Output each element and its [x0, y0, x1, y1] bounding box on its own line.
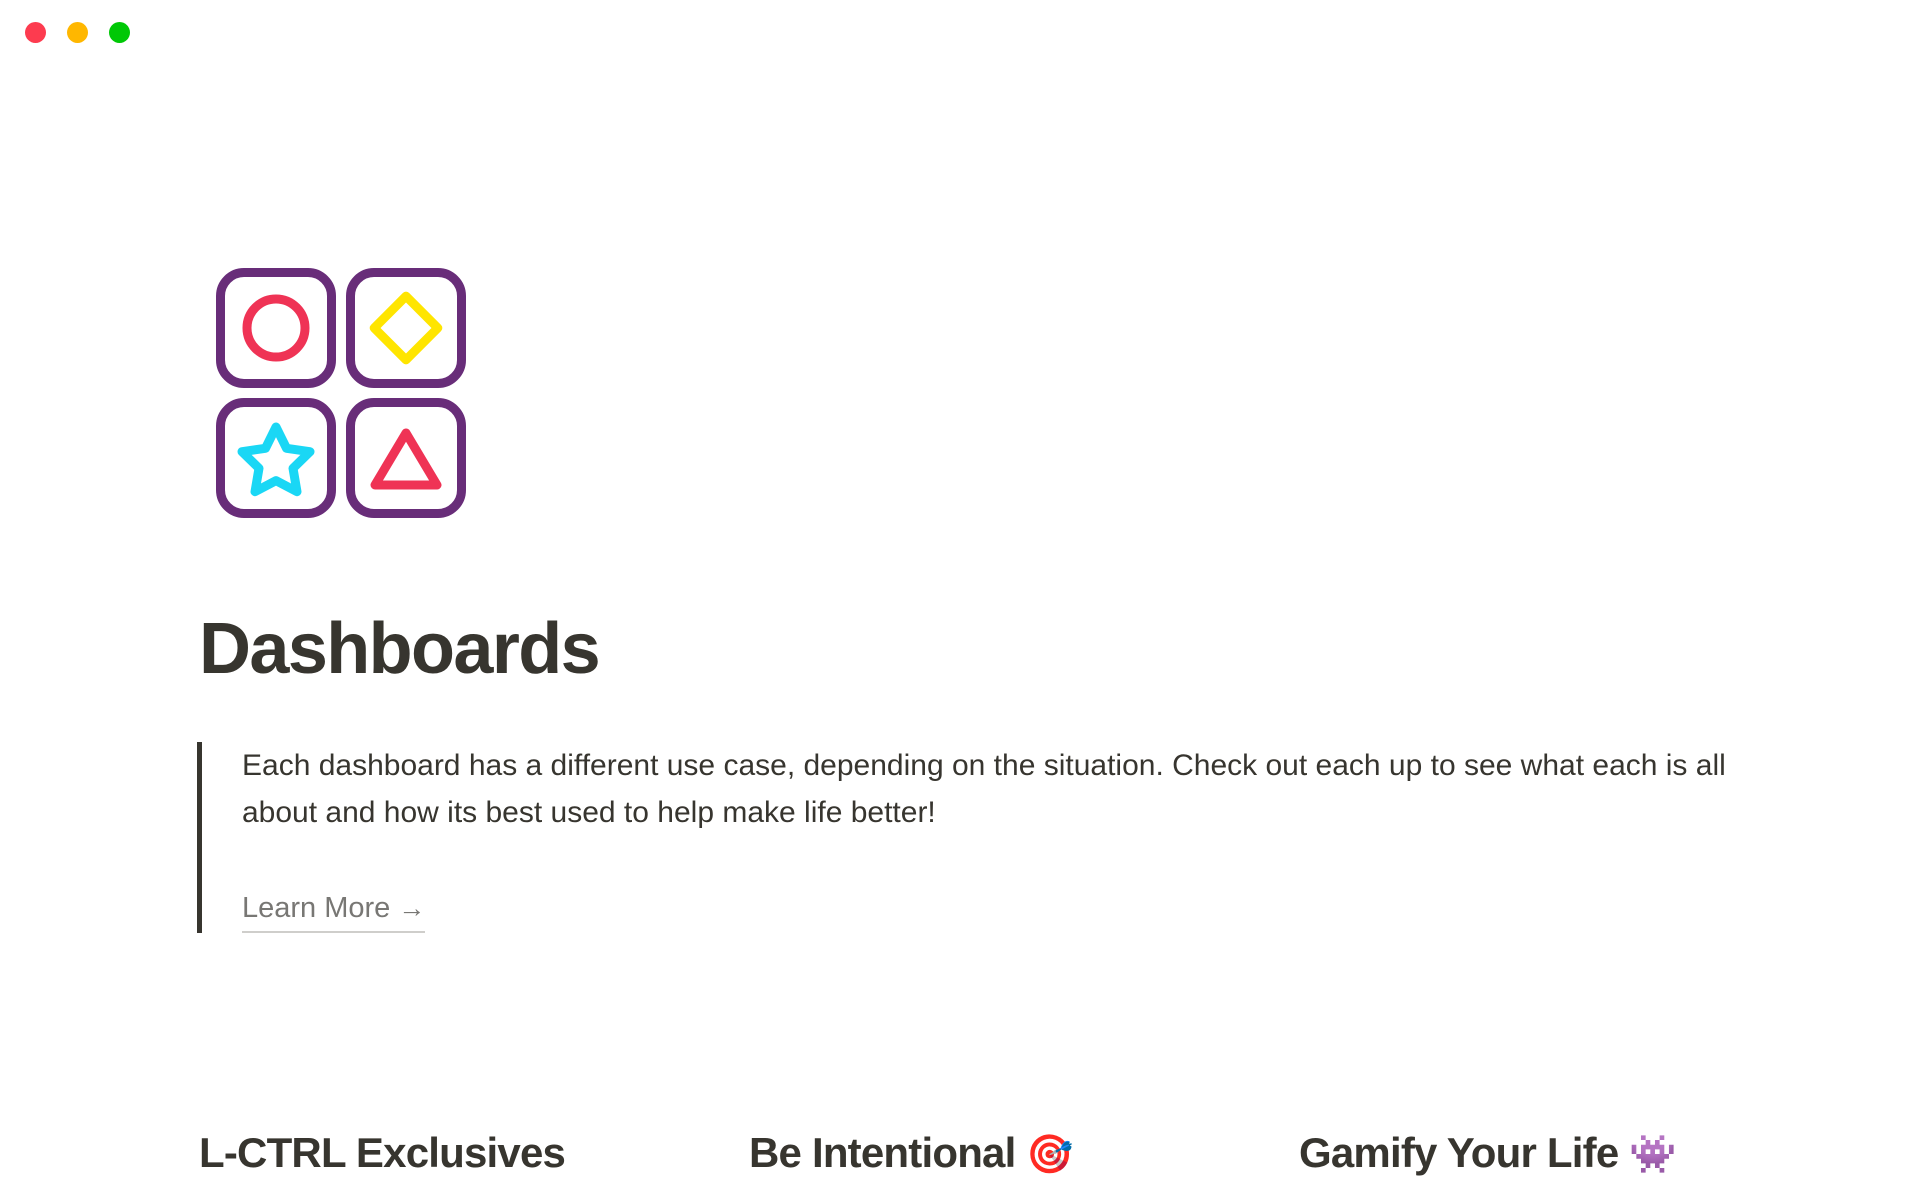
- column-title-text: Gamify Your Life: [1299, 1129, 1618, 1176]
- learn-more-label: Learn More: [242, 892, 390, 924]
- learn-more-link[interactable]: Learn More →: [242, 891, 425, 933]
- callout-text: Each dashboard has a different use case,…: [242, 742, 1732, 836]
- diamond-icon: [367, 289, 445, 367]
- column-title: Be Intentional 🎯: [749, 1128, 1299, 1179]
- star-icon: [236, 419, 316, 497]
- logo-tile-star: [216, 398, 336, 518]
- callout-block: Each dashboard has a different use case,…: [197, 742, 1737, 933]
- page-content: Dashboards Each dashboard has a differen…: [0, 0, 1920, 1200]
- page-title: Dashboards: [199, 613, 599, 685]
- logo-tile-circle: [216, 268, 336, 388]
- section-columns: L-CTRL Exclusives Be Intentional 🎯 Gamif…: [199, 1128, 1799, 1179]
- logo-tile-triangle: [346, 398, 466, 518]
- column-be-intentional: Be Intentional 🎯: [749, 1128, 1299, 1179]
- logo-tile-diamond: [346, 268, 466, 388]
- column-gamify-your-life: Gamify Your Life 👾: [1299, 1128, 1799, 1179]
- column-title-text: Be Intentional: [749, 1129, 1015, 1176]
- dashboards-logo: [216, 268, 466, 520]
- column-l-ctrl-exclusives: L-CTRL Exclusives: [199, 1128, 749, 1179]
- column-title-text: L-CTRL Exclusives: [199, 1129, 565, 1176]
- triangle-icon: [367, 423, 445, 493]
- arrow-right-icon: →: [398, 893, 425, 923]
- target-emoji-icon: 🎯: [1026, 1134, 1073, 1176]
- column-title: Gamify Your Life 👾: [1299, 1128, 1799, 1179]
- alien-monster-emoji-icon: 👾: [1629, 1134, 1676, 1176]
- circle-icon: [239, 291, 313, 365]
- column-title: L-CTRL Exclusives: [199, 1128, 749, 1179]
